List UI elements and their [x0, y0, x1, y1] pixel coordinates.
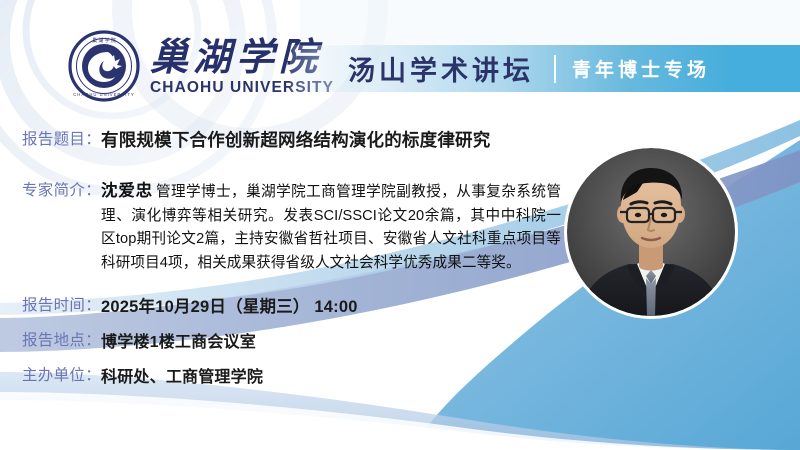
university-seal-icon: 巢 湖 学 院 CHAOHU UNIVERSITY: [68, 30, 140, 102]
time-label: 报告时间：: [22, 293, 101, 315]
host-value: 科研处、工商管理学院: [101, 363, 263, 387]
host-label: 主办单位：: [22, 363, 101, 385]
banner-title: 汤山学术讲坛: [348, 49, 534, 88]
banner-divider: [554, 55, 556, 83]
time-value: 2025年10月29日（星期三） 14:00: [101, 293, 358, 317]
field-row-title: 报告题目： 有限规模下合作创新超网络结构演化的标度律研究: [22, 127, 490, 152]
speaker-name: 沈爱忠: [101, 182, 153, 200]
place-value: 博学楼1楼工商会议室: [101, 328, 256, 352]
bio-label: 专家简介：: [22, 178, 101, 200]
event-banner: 汤山学术讲坛 青年博士专场: [290, 45, 800, 92]
place-label: 报告地点：: [22, 328, 101, 350]
field-row-host: 主办单位： 科研处、工商管理学院: [22, 363, 263, 387]
svg-text:CHAOHU UNIVERSITY: CHAOHU UNIVERSITY: [73, 92, 134, 97]
field-row-place: 报告地点： 博学楼1楼工商会议室: [22, 328, 256, 352]
seminar-poster: 巢 湖 学 院 CHAOHU UNIVERSITY 巢湖学院 CHAOHU UN…: [0, 0, 800, 450]
field-row-bio: 专家简介： 沈爱忠管理学博士，巢湖学院工商管理学院副教授，从事复杂系统管理、演化…: [22, 178, 561, 276]
speaker-portrait: [567, 148, 735, 316]
bio-text: 管理学博士，巢湖学院工商管理学院副教授，从事复杂系统管理、演化博弈等相关研究。发…: [101, 184, 561, 271]
title-value: 有限规模下合作创新超网络结构演化的标度律研究: [101, 127, 490, 152]
svg-text:巢 湖 学 院: 巢 湖 学 院: [92, 37, 116, 44]
banner-subtitle: 青年博士专场: [572, 55, 710, 82]
field-row-time: 报告时间： 2025年10月29日（星期三） 14:00: [22, 293, 358, 317]
bio-body: 沈爱忠管理学博士，巢湖学院工商管理学院副教授，从事复杂系统管理、演化博弈等相关研…: [101, 178, 561, 276]
title-label: 报告题目：: [22, 127, 101, 149]
poster-header: 巢 湖 学 院 CHAOHU UNIVERSITY 巢湖学院 CHAOHU UN…: [0, 0, 800, 110]
